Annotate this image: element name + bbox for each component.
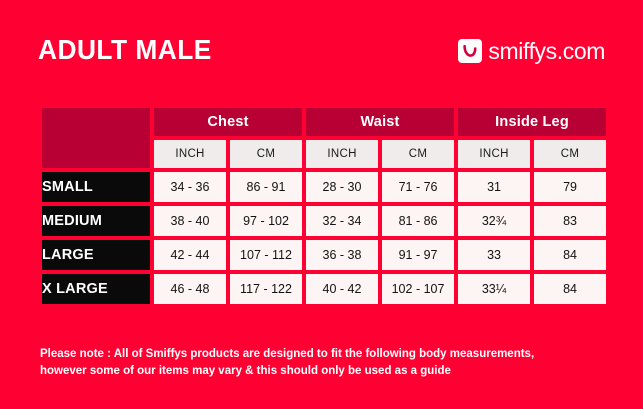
cell-large-waist-inch: 36 - 38 (306, 240, 378, 270)
cell-large-inside-leg-inch: 33 (458, 240, 530, 270)
column-group-waist: Waist (306, 108, 454, 136)
cell-small-waist-cm: 71 - 76 (382, 172, 454, 202)
table-row: MEDIUM 38 - 40 97 - 102 32 - 34 81 - 86 … (42, 206, 606, 236)
smiffys-smile-icon (458, 39, 482, 63)
cell-x-large-chest-cm: 117 - 122 (230, 274, 302, 304)
size-label-medium: MEDIUM (42, 206, 150, 236)
table-row: SMALL 34 - 36 86 - 91 28 - 30 71 - 76 31… (42, 172, 606, 202)
cell-large-waist-cm: 91 - 97 (382, 240, 454, 270)
disclaimer-line-2: however some of our items may vary & thi… (40, 363, 615, 380)
cell-medium-chest-cm: 97 - 102 (230, 206, 302, 236)
size-label-x-large: X LARGE (42, 274, 150, 304)
cell-small-chest-inch: 34 - 36 (154, 172, 226, 202)
cell-medium-inside-leg-inch: 32¾ (458, 206, 530, 236)
cell-small-waist-inch: 28 - 30 (306, 172, 378, 202)
page-header: ADULT MALE smiffys.com (0, 0, 643, 100)
cell-small-inside-leg-inch: 31 (458, 172, 530, 202)
size-label-large: LARGE (42, 240, 150, 270)
cell-x-large-inside-leg-cm: 84 (534, 274, 606, 304)
corner-cell (42, 108, 150, 168)
cell-medium-inside-leg-cm: 83 (534, 206, 606, 236)
brand-name: smiffys.com (488, 40, 605, 63)
page-title: ADULT MALE (38, 36, 212, 64)
cell-medium-waist-inch: 32 - 34 (306, 206, 378, 236)
cell-x-large-waist-cm: 102 - 107 (382, 274, 454, 304)
size-chart-table: Chest Waist Inside Leg INCH CM INCH CM I… (38, 104, 610, 308)
cell-x-large-waist-inch: 40 - 42 (306, 274, 378, 304)
cell-small-inside-leg-cm: 79 (534, 172, 606, 202)
cell-x-large-inside-leg-inch: 33¼ (458, 274, 530, 304)
column-group-chest: Chest (154, 108, 302, 136)
unit-header-waist-inch: INCH (306, 140, 378, 168)
disclaimer-line-1: Please note : All of Smiffys products ar… (40, 346, 615, 363)
unit-header-inside-leg-inch: INCH (458, 140, 530, 168)
cell-large-chest-inch: 42 - 44 (154, 240, 226, 270)
table-group-header-row: Chest Waist Inside Leg (42, 108, 606, 136)
cell-medium-chest-inch: 38 - 40 (154, 206, 226, 236)
cell-x-large-chest-inch: 46 - 48 (154, 274, 226, 304)
column-group-inside-leg: Inside Leg (458, 108, 606, 136)
unit-header-chest-inch: INCH (154, 140, 226, 168)
table-row: LARGE 42 - 44 107 - 112 36 - 38 91 - 97 … (42, 240, 606, 270)
unit-header-inside-leg-cm: CM (534, 140, 606, 168)
size-label-small: SMALL (42, 172, 150, 202)
cell-small-chest-cm: 86 - 91 (230, 172, 302, 202)
table-row: X LARGE 46 - 48 117 - 122 40 - 42 102 - … (42, 274, 606, 304)
size-chart-page: ADULT MALE smiffys.com Chest Waist Insid… (0, 0, 643, 409)
unit-header-waist-cm: CM (382, 140, 454, 168)
cell-large-chest-cm: 107 - 112 (230, 240, 302, 270)
cell-medium-waist-cm: 81 - 86 (382, 206, 454, 236)
disclaimer-note: Please note : All of Smiffys products ar… (40, 346, 615, 379)
brand-logo: smiffys.com (458, 39, 605, 63)
unit-header-chest-cm: CM (230, 140, 302, 168)
cell-large-inside-leg-cm: 84 (534, 240, 606, 270)
